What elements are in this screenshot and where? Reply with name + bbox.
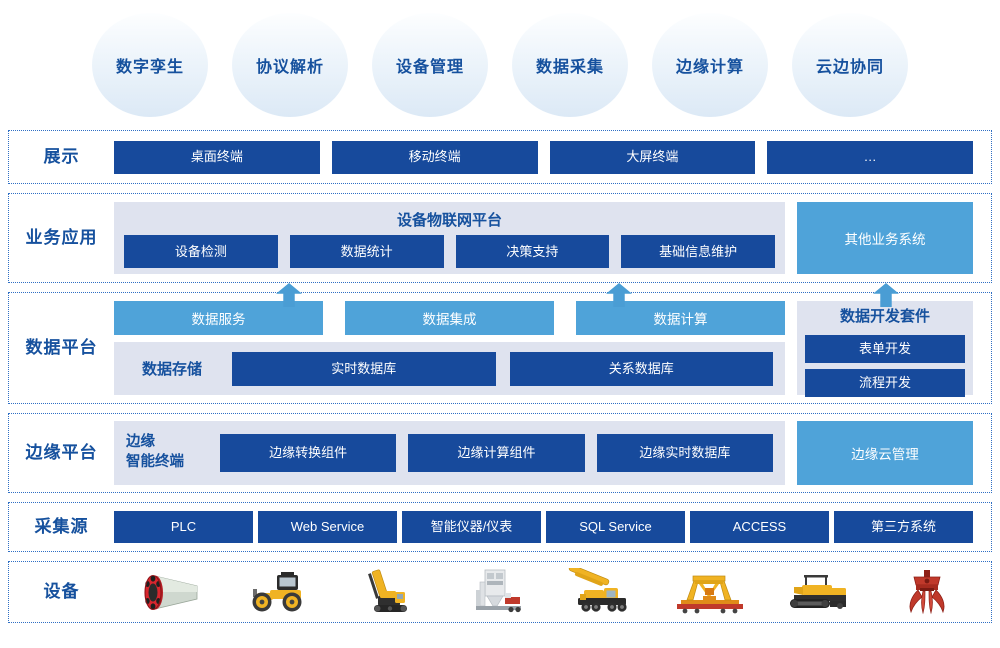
data-development-suite-title: 数据开发套件 (805, 304, 965, 329)
display-item-mobile-terminal[interactable]: 移动终端 (332, 141, 538, 174)
equipment-item-asphalt-paver (764, 565, 872, 619)
drilling-rig-icon (348, 568, 422, 616)
road-roller-icon (240, 569, 314, 615)
data-service-data-integration[interactable]: 数据集成 (345, 301, 554, 335)
edge-terminal-label-line2: 智能终端 (126, 453, 208, 473)
capability-ellipse-digital-twin[interactable]: 数字孪生 (92, 13, 208, 117)
layer-label-equipment: 设备 (9, 582, 114, 602)
layer-label-edge-platform: 边缘平台 (9, 443, 114, 463)
source-item-web-service[interactable]: Web Service (258, 511, 397, 543)
business-item-basic-info-maintenance[interactable]: 基础信息维护 (621, 235, 775, 268)
edge-item-computing-component[interactable]: 边缘计算组件 (408, 434, 584, 472)
equipment-item-road-roller (222, 565, 330, 619)
data-platform-main: 数据服务 数据集成 数据计算 数据存储 实时数据库 关系数据库 (114, 301, 785, 395)
equipment-item-mobile-crane (548, 565, 656, 619)
data-storage-panel: 数据存储 实时数据库 关系数据库 (114, 342, 785, 395)
edge-item-cloud-management[interactable]: 边缘云管理 (797, 421, 973, 485)
grab-bucket-icon (892, 568, 962, 616)
layer-collection-sources: 采集源 PLC Web Service 智能仪器/仪表 SQL Service … (8, 502, 992, 552)
layer-business-application: 业务应用 设备物联网平台 设备检测 数据统计 决策支持 基础信息维护 其他业务系… (8, 193, 992, 283)
layer-display-body: 桌面终端 移动终端 大屏终端 … (114, 131, 991, 183)
display-item-large-screen-terminal[interactable]: 大屏终端 (550, 141, 756, 174)
mobile-crane-icon (562, 568, 642, 616)
data-storage-label: 数据存储 (126, 358, 218, 379)
source-item-plc[interactable]: PLC (114, 511, 253, 543)
tunnel-boring-machine-icon (131, 569, 205, 615)
data-storage-realtime-database[interactable]: 实时数据库 (232, 352, 496, 386)
capability-ellipse-cloud-edge-collaboration[interactable]: 云边协同 (792, 13, 908, 117)
source-item-third-party-system[interactable]: 第三方系统 (834, 511, 973, 543)
capability-ellipse-device-management[interactable]: 设备管理 (372, 13, 488, 117)
capability-ellipse-protocol-parsing[interactable]: 协议解析 (232, 13, 348, 117)
layer-label-data-platform: 数据平台 (9, 338, 114, 358)
capability-ellipse-row: 数字孪生 协议解析 设备管理 数据采集 边缘计算 云边协同 (0, 0, 1000, 130)
equipment-item-drilling-rig (331, 565, 439, 619)
source-item-access[interactable]: ACCESS (690, 511, 829, 543)
equipment-item-grab-bucket (873, 565, 981, 619)
iot-platform-panel: 设备物联网平台 设备检测 数据统计 决策支持 基础信息维护 (114, 202, 785, 274)
capability-label: 协议解析 (256, 53, 324, 77)
iot-platform-items-row: 设备检测 数据统计 决策支持 基础信息维护 (124, 235, 775, 268)
dev-suite-process-development[interactable]: 流程开发 (805, 369, 965, 397)
layer-edge-body: 边缘 智能终端 边缘转换组件 边缘计算组件 边缘实时数据库 边缘云管理 (114, 414, 991, 492)
asphalt-paver-icon (780, 569, 856, 615)
layer-label-display: 展示 (9, 147, 114, 167)
layer-business-body: 设备物联网平台 设备检测 数据统计 决策支持 基础信息维护 其他业务系统 (114, 194, 991, 282)
layer-sources-body: PLC Web Service 智能仪器/仪表 SQL Service ACCE… (114, 503, 991, 551)
data-services-row: 数据服务 数据集成 数据计算 (114, 301, 785, 335)
equipment-item-batching-plant (439, 565, 547, 619)
edge-item-realtime-database[interactable]: 边缘实时数据库 (597, 434, 773, 472)
batching-plant-icon (456, 568, 530, 616)
equipment-item-tunnel-boring-machine (114, 565, 222, 619)
capability-ellipse-data-acquisition[interactable]: 数据采集 (512, 13, 628, 117)
data-storage-relational-database[interactable]: 关系数据库 (510, 352, 774, 386)
layer-equipment: 设备 (8, 561, 992, 623)
edge-terminal-label-line1: 边缘 (126, 433, 208, 453)
business-item-decision-support[interactable]: 决策支持 (456, 235, 610, 268)
dev-suite-form-development[interactable]: 表单开发 (805, 335, 965, 363)
iot-platform-title: 设备物联网平台 (124, 206, 775, 235)
edge-intelligent-terminal-label: 边缘 智能终端 (126, 433, 208, 472)
data-development-suite-panel: 数据开发套件 表单开发 流程开发 (797, 301, 973, 395)
layer-label-business-application: 业务应用 (9, 228, 114, 248)
layer-data-body: 数据服务 数据集成 数据计算 数据存储 实时数据库 关系数据库 数据开发套件 表… (114, 293, 991, 403)
capability-ellipse-edge-computing[interactable]: 边缘计算 (652, 13, 768, 117)
source-item-smart-instrument[interactable]: 智能仪器/仪表 (402, 511, 541, 543)
business-item-other-systems[interactable]: 其他业务系统 (797, 202, 973, 274)
capability-label: 云边协同 (816, 53, 884, 77)
equipment-item-girder-launcher (656, 565, 764, 619)
capability-label: 数字孪生 (116, 53, 184, 77)
display-item-desktop-terminal[interactable]: 桌面终端 (114, 141, 320, 174)
source-item-sql-service[interactable]: SQL Service (546, 511, 685, 543)
layer-label-collection-sources: 采集源 (9, 517, 114, 537)
girder-launcher-icon (669, 568, 751, 616)
data-service-data-computing[interactable]: 数据计算 (576, 301, 785, 335)
layer-equipment-body (114, 562, 991, 622)
capability-label: 边缘计算 (676, 53, 744, 77)
capability-label: 数据采集 (536, 53, 604, 77)
display-item-more[interactable]: … (767, 141, 973, 174)
capability-label: 设备管理 (396, 53, 464, 77)
edge-item-conversion-component[interactable]: 边缘转换组件 (220, 434, 396, 472)
business-item-device-detection[interactable]: 设备检测 (124, 235, 278, 268)
layer-display: 展示 桌面终端 移动终端 大屏终端 … (8, 130, 992, 184)
layer-data-platform: 数据平台 数据服务 数据集成 数据计算 数据存储 实时数据库 关系数据库 数据开… (8, 292, 992, 404)
edge-intelligent-terminal-panel: 边缘 智能终端 边缘转换组件 边缘计算组件 边缘实时数据库 (114, 421, 785, 485)
business-item-data-statistics[interactable]: 数据统计 (290, 235, 444, 268)
layer-edge-platform: 边缘平台 边缘 智能终端 边缘转换组件 边缘计算组件 边缘实时数据库 边缘云管理 (8, 413, 992, 493)
